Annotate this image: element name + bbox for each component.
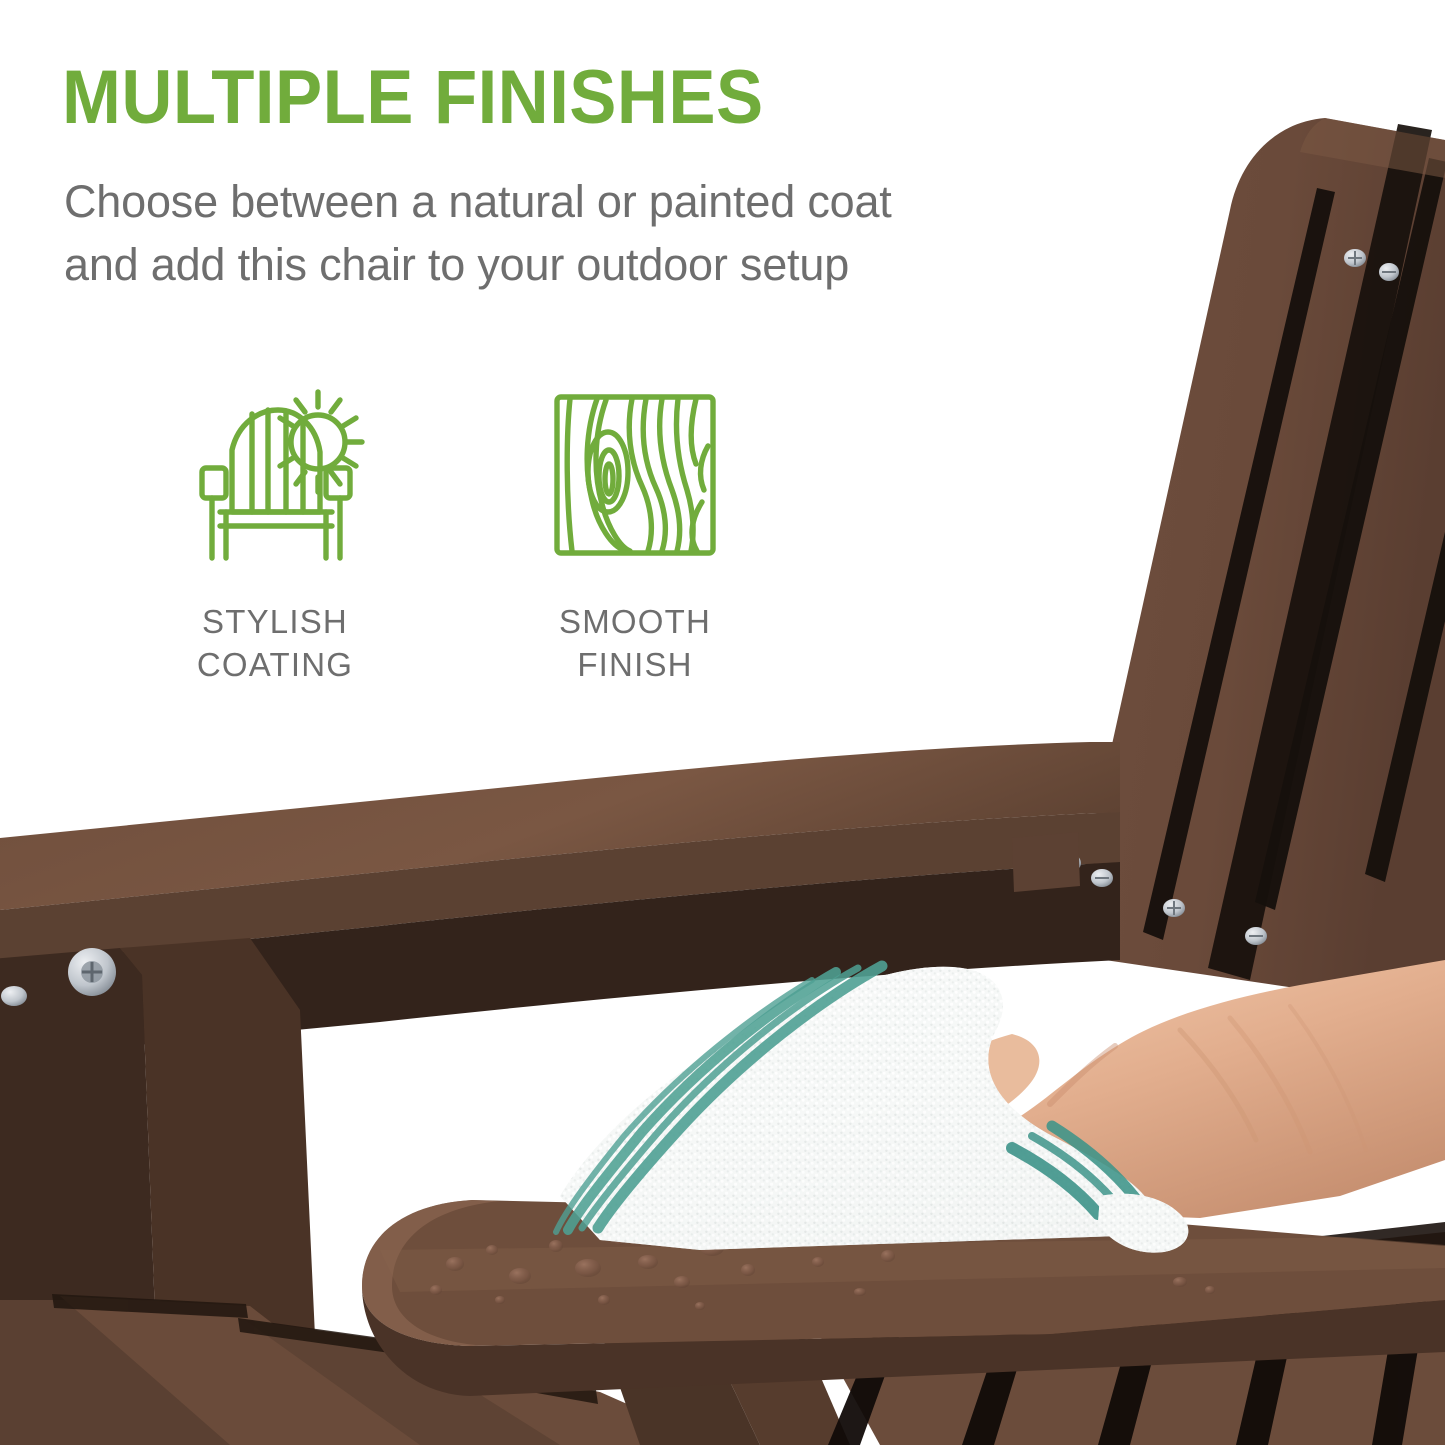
feature-smooth-finish: SMOOTH FINISH xyxy=(540,380,730,686)
knot-inner xyxy=(605,464,613,494)
left-leg-bracket xyxy=(0,938,320,1445)
feature-stylish-coating: STYLISH COATING xyxy=(180,380,370,686)
screw-icon xyxy=(1055,853,1081,873)
hand xyxy=(915,960,1445,1218)
chair-arm-left xyxy=(202,468,226,498)
page-title: MULTIPLE FINISHES xyxy=(62,56,764,140)
screw-icon xyxy=(1344,249,1366,267)
feature-list: STYLISH COATING xyxy=(180,380,730,686)
bolt-icon xyxy=(68,948,116,996)
water-droplets xyxy=(430,1226,1215,1310)
chair-back-shape xyxy=(232,410,320,512)
feature-label: STYLISH COATING xyxy=(197,600,353,686)
grain-line xyxy=(701,446,708,490)
grain-line xyxy=(567,399,572,551)
feature-label: SMOOTH FINISH xyxy=(559,600,711,686)
grain-line xyxy=(691,399,696,464)
subtitle: Choose between a natural or painted coat… xyxy=(64,170,1124,296)
armrest-support xyxy=(600,1306,850,1445)
towel-stripes-left xyxy=(556,966,882,1232)
towel xyxy=(556,966,1188,1253)
product-feature-image: MULTIPLE FINISHES Choose between a natur… xyxy=(0,0,1445,1445)
wet-armrest xyxy=(362,1200,1445,1396)
seat-slats-left xyxy=(0,1294,720,1445)
screw-icon xyxy=(1091,869,1113,887)
screw-icon xyxy=(1245,927,1267,945)
subtitle-line-2: and add this chair to your outdoor setup xyxy=(64,233,1124,296)
seat-slats-right xyxy=(760,1222,1445,1445)
far-armrest xyxy=(0,742,1120,1060)
back-screws xyxy=(1055,249,1399,945)
screw-icon xyxy=(1379,263,1399,281)
chair-back xyxy=(1075,118,1445,1010)
subtitle-line-1: Choose between a natural or painted coat xyxy=(64,170,1124,233)
wood-grain-icon xyxy=(550,380,720,570)
screw-icon xyxy=(1163,899,1185,917)
towel-stripes-right xyxy=(1012,1126,1140,1214)
chair-sun-icon xyxy=(180,380,370,570)
